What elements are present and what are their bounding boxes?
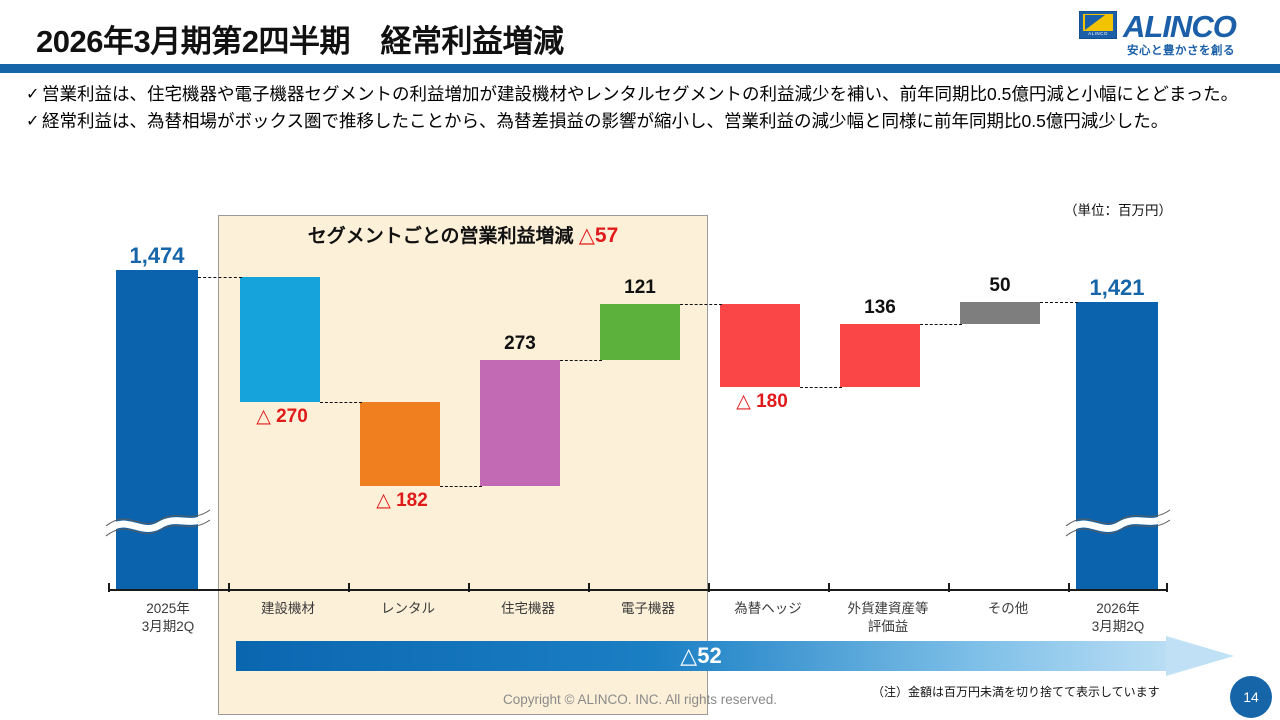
x-axis-labels: 2025年 3月期2Q 建設機材 レンタル 住宅機器 電子機器 為替ヘッジ 外貨… xyxy=(0,600,1280,646)
x-label-2025-2q: 2025年 3月期2Q xyxy=(108,600,228,636)
x-label-housing: 住宅機器 xyxy=(468,600,588,618)
bar-housing-equipment xyxy=(480,360,560,486)
axis-tick xyxy=(828,583,830,592)
bar-label-fx-asset-valuation: 136 xyxy=(840,297,920,319)
connector-line xyxy=(440,486,482,487)
waterfall-chart: （単位：百万円） セグメントごとの営業利益増減 △57 1,474 △ 270 … xyxy=(0,185,1280,655)
list-item: ✓ 営業利益は、住宅機器や電子機器セグメントの利益増加が建設機材やレンタルセグメ… xyxy=(26,82,1246,107)
bar-rental xyxy=(360,402,440,486)
bar-2026-total xyxy=(1076,302,1158,589)
bar-label-2025-total: 1,474 xyxy=(98,243,216,269)
bullet-list: ✓ 営業利益は、住宅機器や電子機器セグメントの利益増加が建設機材やレンタルセグメ… xyxy=(26,82,1246,136)
axis-tick xyxy=(348,583,350,592)
connector-line xyxy=(920,324,962,325)
logo-mark-text: ALINCO xyxy=(1083,31,1113,37)
axis-tick xyxy=(228,583,230,592)
axis-tick xyxy=(708,583,710,592)
x-label-construction: 建設機材 xyxy=(228,600,348,618)
connector-line xyxy=(560,360,602,361)
bar-2025-total xyxy=(116,270,198,589)
x-label-rental: レンタル xyxy=(348,600,468,618)
bullet-text: 経常利益は、為替相場がボックス圏で推移したことから、為替差損益の影響が縮小し、営… xyxy=(42,109,1246,134)
x-label-electronics: 電子機器 xyxy=(588,600,708,618)
x-label-fx-valuation: 外貨建資産等 評価益 xyxy=(818,600,958,636)
connector-line xyxy=(1040,302,1078,303)
bar-label-fx-hedge: △ 180 xyxy=(712,390,812,413)
bar-label-2026-total: 1,421 xyxy=(1058,275,1176,301)
axis-tick xyxy=(108,583,110,592)
check-icon: ✓ xyxy=(26,109,42,134)
bar-label-rental: △ 182 xyxy=(352,489,452,512)
bar-electronics xyxy=(600,304,680,360)
axis-tick xyxy=(1068,583,1070,592)
summary-arrow: △52 xyxy=(236,641,1236,671)
alinco-logo-mark-icon: ALINCO xyxy=(1079,11,1117,39)
header-divider xyxy=(0,64,1280,73)
segment-box-title-text: セグメントごとの営業利益増減 xyxy=(308,226,574,247)
axis-tick xyxy=(468,583,470,592)
bar-other xyxy=(960,302,1040,324)
bar-construction-equipment xyxy=(240,277,320,402)
connector-line xyxy=(680,304,722,305)
x-axis xyxy=(108,589,1168,591)
x-label-2026-2q: 2026年 3月期2Q xyxy=(1058,600,1178,636)
bar-fx-hedge xyxy=(720,304,800,387)
check-icon: ✓ xyxy=(26,82,42,107)
bar-label-housing-equipment: 273 xyxy=(480,333,560,355)
bar-label-construction-equipment: △ 270 xyxy=(232,405,332,428)
bar-label-other: 50 xyxy=(960,275,1040,297)
segment-box-total: △57 xyxy=(579,224,619,247)
page-number-badge: 14 xyxy=(1230,676,1272,718)
page-title: 2026年3月期第2四半期 経常利益増減 xyxy=(36,16,563,61)
bar-fx-asset-valuation xyxy=(840,324,920,387)
axis-tick xyxy=(588,583,590,592)
arrow-head-icon xyxy=(1166,636,1234,676)
segment-box-title: セグメントごとの営業利益増減 △57 xyxy=(218,221,708,248)
axis-break-icon-right xyxy=(1064,507,1174,541)
logo-wordmark: ALINCO xyxy=(1123,9,1236,45)
arrow-label: △52 xyxy=(236,641,1166,671)
x-label-fx-hedge: 為替ヘッジ xyxy=(708,600,828,618)
connector-line xyxy=(800,387,842,388)
connector-line xyxy=(198,277,242,278)
axis-tick xyxy=(948,583,950,592)
chart-unit-label: （単位：百万円） xyxy=(1064,199,1172,219)
logo-tagline: 安心と豊かさを創る xyxy=(1127,42,1235,58)
connector-line xyxy=(320,402,362,403)
axis-break-icon-left xyxy=(104,507,214,541)
axis-tick xyxy=(1166,583,1168,592)
alinco-logo: ALINCO ALINCO 安心と豊かさを創る xyxy=(1079,9,1254,57)
slide-header: 2026年3月期第2四半期 経常利益増減 ALINCO ALINCO 安心と豊か… xyxy=(0,0,1280,64)
chart-note: （注）金額は百万円未満を切り捨てて表示しています xyxy=(872,683,1160,700)
bar-label-electronics: 121 xyxy=(600,277,680,299)
x-label-other: その他 xyxy=(948,600,1068,618)
bullet-text: 営業利益は、住宅機器や電子機器セグメントの利益増加が建設機材やレンタルセグメント… xyxy=(42,82,1246,107)
list-item: ✓ 経常利益は、為替相場がボックス圏で推移したことから、為替差損益の影響が縮小し… xyxy=(26,109,1246,134)
